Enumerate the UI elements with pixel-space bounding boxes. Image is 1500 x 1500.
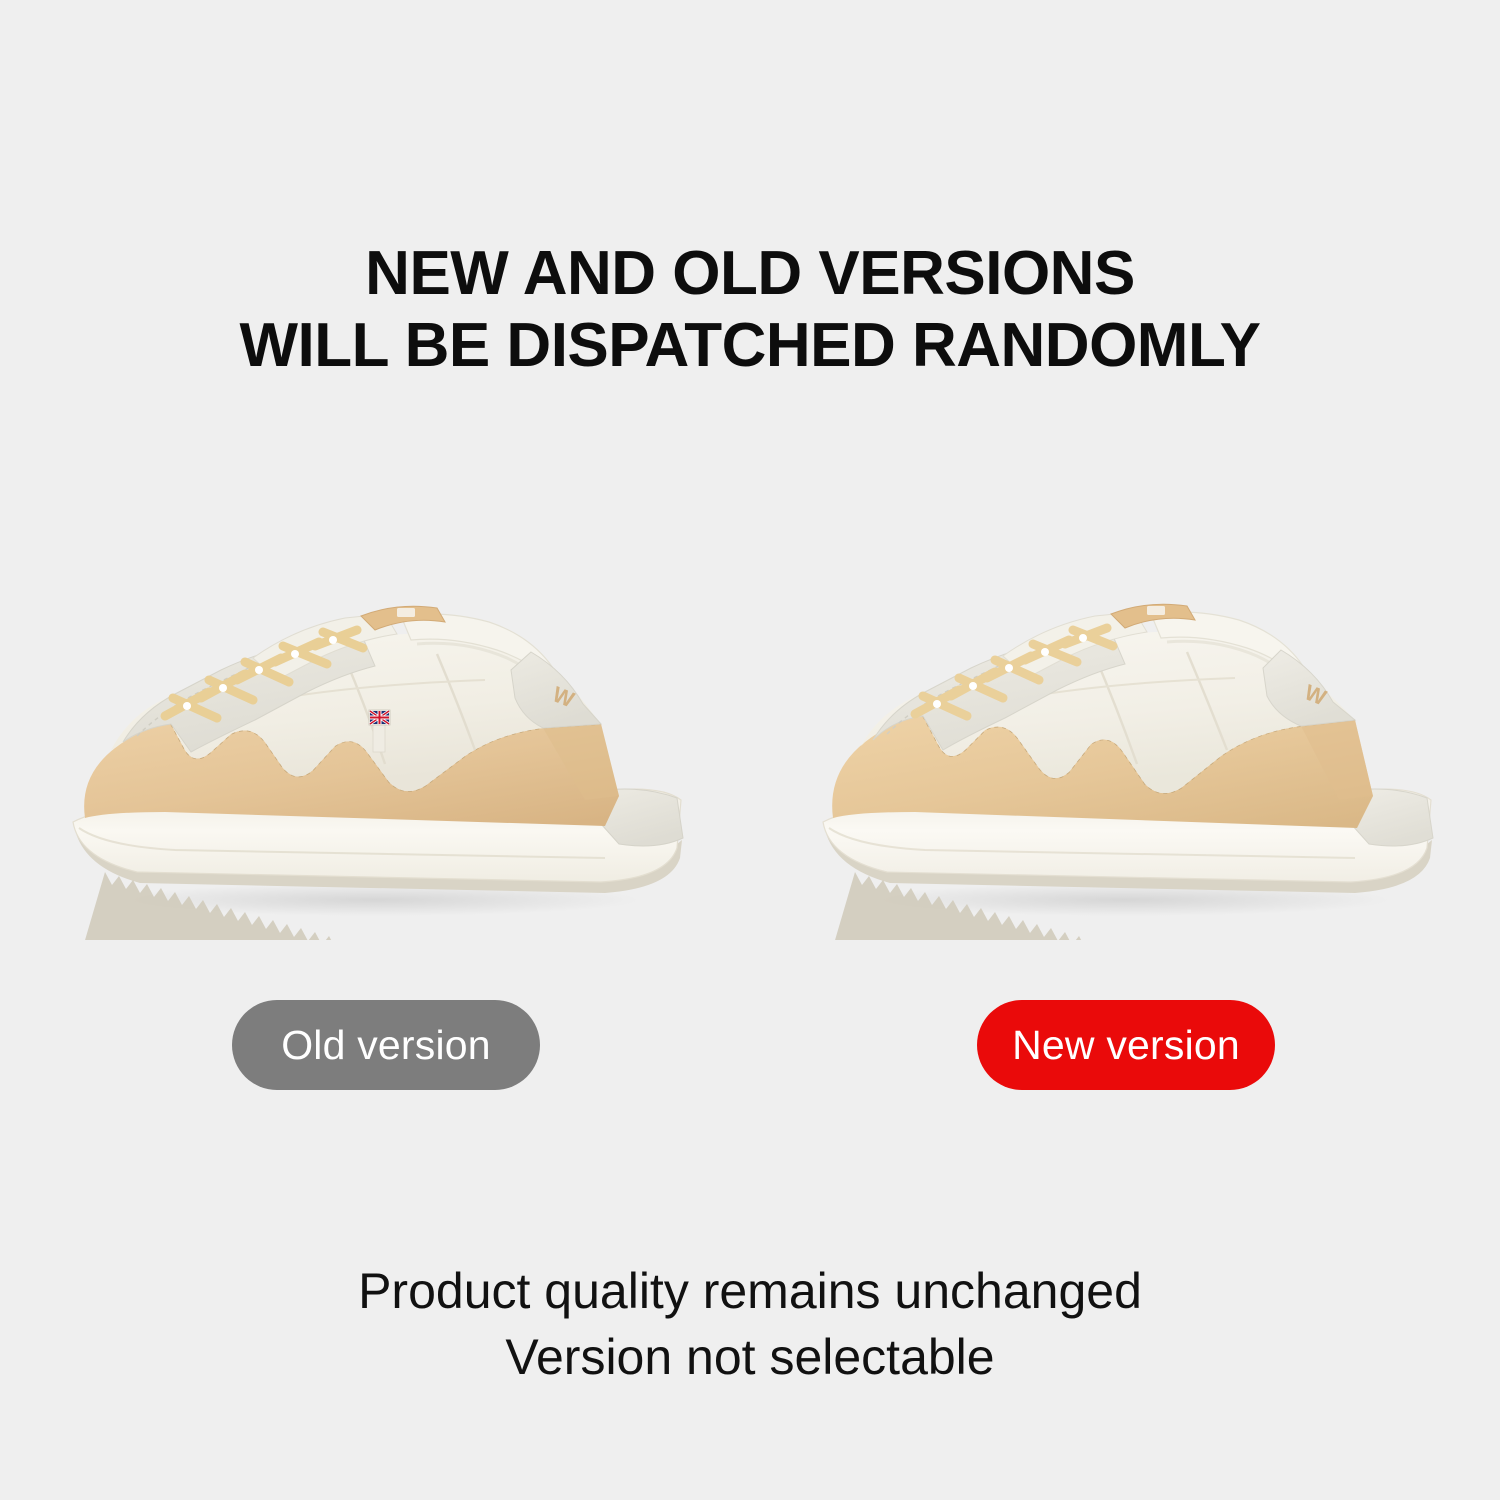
sneaker-illustration-old: W (45, 600, 705, 940)
product-image-new-version: W (795, 600, 1455, 940)
product-image-old-version: W (45, 600, 705, 940)
footer-line-1: Product quality remains unchanged (0, 1258, 1500, 1324)
headline-line-2: WILL BE DISPATCHED RANDOMLY (0, 310, 1500, 382)
pull-tab-label (1147, 606, 1165, 615)
pull-tab-label (397, 608, 415, 617)
footer-line-2: Version not selectable (0, 1324, 1500, 1390)
product-comparison-row: W (0, 600, 1500, 940)
headline-line-1: NEW AND OLD VERSIONS (0, 238, 1500, 310)
badge-new-version: New version (977, 1000, 1275, 1090)
product-info-graphic: NEW AND OLD VERSIONS WILL BE DISPATCHED … (0, 0, 1500, 1500)
footer-note: Product quality remains unchanged Versio… (0, 1258, 1500, 1390)
sneaker-illustration-new: W (795, 600, 1455, 940)
badge-old-version: Old version (232, 1000, 540, 1090)
page-title: NEW AND OLD VERSIONS WILL BE DISPATCHED … (0, 238, 1500, 382)
